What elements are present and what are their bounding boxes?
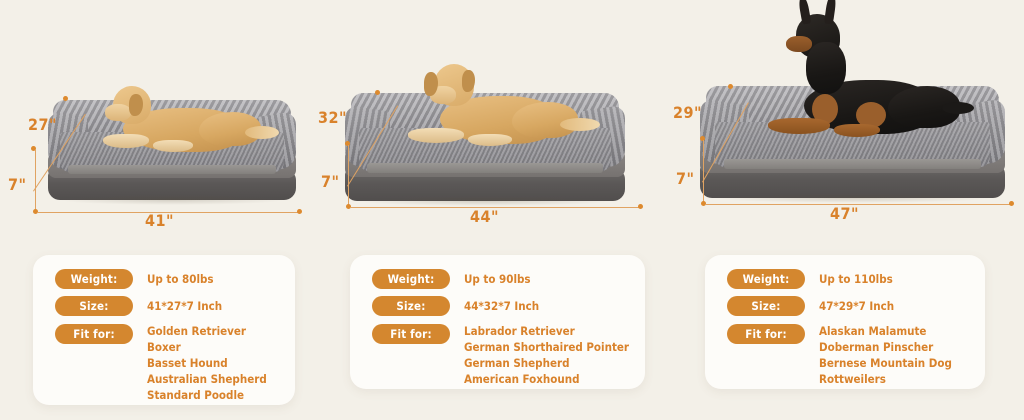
- product-group-xxlarge: 29" 7" 47" Weight: Up to 110lbs Size: 47…: [660, 0, 1024, 240]
- fit-label-pill: Fit for:: [727, 324, 805, 344]
- bed-front-lip: [68, 165, 276, 174]
- breed-item: Boxer: [147, 339, 267, 355]
- breed-item: Rottweilers: [819, 371, 952, 387]
- weight-label-pill: Weight:: [727, 269, 805, 289]
- size-label-pill: Size:: [727, 296, 805, 316]
- breed-item: Bernese Mountain Dog: [819, 355, 952, 371]
- breed-item: German Shorthaired Pointer: [464, 339, 629, 355]
- weight-value: Up to 90lbs: [464, 269, 531, 289]
- size-value: 47*29*7 Inch: [819, 296, 894, 316]
- breed-item: Doberman Pinscher: [819, 339, 952, 355]
- dim-height-xlarge: 7": [321, 172, 340, 191]
- dim-width-xlarge: 44": [470, 207, 499, 226]
- product-group-large: 27" 7" 41" Weight: Up to 80lbs Size: 41*…: [0, 0, 320, 240]
- fit-label-pill: Fit for:: [372, 324, 450, 344]
- weight-value: Up to 110lbs: [819, 269, 893, 289]
- size-row: Size: 44*32*7 Inch: [372, 296, 633, 316]
- dim-height-xxlarge: 7": [676, 169, 695, 188]
- size-row: Size: 47*29*7 Inch: [727, 296, 973, 316]
- bed-shadow: [712, 193, 993, 203]
- size-label-pill: Size:: [55, 296, 133, 316]
- product-group-xlarge: 32" 7" 44" Weight: Up to 90lbs Size: 44*…: [320, 0, 660, 240]
- dim-height-large: 7": [8, 175, 27, 194]
- fit-row: Fit for: Golden RetrieverBoxerBasset Hou…: [55, 323, 283, 403]
- breed-item: Labrador Retriever: [464, 323, 629, 339]
- infographic-stage: 27" 7" 41" Weight: Up to 80lbs Size: 41*…: [0, 0, 1024, 420]
- size-value: 44*32*7 Inch: [464, 296, 539, 316]
- bed-shadow: [58, 195, 286, 205]
- breed-item: Golden Retriever: [147, 323, 267, 339]
- weight-label-pill: Weight:: [372, 269, 450, 289]
- dim-depth-xxlarge: 29": [673, 103, 702, 122]
- info-card-xxlarge: Weight: Up to 110lbs Size: 47*29*7 Inch …: [705, 255, 985, 389]
- size-value: 41*27*7 Inch: [147, 296, 222, 316]
- weight-row: Weight: Up to 110lbs: [727, 269, 973, 289]
- weight-value: Up to 80lbs: [147, 269, 214, 289]
- breed-item: Australian Shepherd: [147, 371, 267, 387]
- info-card-large: Weight: Up to 80lbs Size: 41*27*7 Inch F…: [33, 255, 295, 405]
- fit-label-pill: Fit for:: [55, 324, 133, 344]
- dim-depth-xlarge: 32": [318, 108, 347, 127]
- breed-item: German Shepherd: [464, 355, 629, 371]
- breed-item: Basset Hound: [147, 355, 267, 371]
- breed-list: Golden RetrieverBoxerBasset HoundAustral…: [147, 323, 267, 403]
- dog-bed-xxlarge: [700, 86, 1005, 198]
- size-row: Size: 41*27*7 Inch: [55, 296, 283, 316]
- weight-row: Weight: Up to 80lbs: [55, 269, 283, 289]
- bed-front-lip: [724, 159, 980, 169]
- dog-bed-xlarge: [345, 93, 625, 201]
- size-label-pill: Size:: [372, 296, 450, 316]
- breed-list: Alaskan MalamuteDoberman PinscherBernese…: [819, 323, 952, 387]
- breed-item: Alaskan Malamute: [819, 323, 952, 339]
- bed-front-lip: [367, 163, 602, 173]
- breed-list: Labrador RetrieverGerman Shorthaired Poi…: [464, 323, 629, 387]
- breed-item: American Foxhound: [464, 371, 629, 387]
- dim-depth-large: 27": [28, 115, 57, 134]
- dim-width-xxlarge: 47": [830, 204, 859, 223]
- bed-shadow: [356, 196, 614, 206]
- fit-row: Fit for: Labrador RetrieverGerman Shorth…: [372, 323, 633, 387]
- weight-row: Weight: Up to 90lbs: [372, 269, 633, 289]
- dim-width-large: 41": [145, 211, 174, 230]
- info-card-xlarge: Weight: Up to 90lbs Size: 44*32*7 Inch F…: [350, 255, 645, 389]
- breed-item: Standard Poodle: [147, 387, 267, 403]
- weight-label-pill: Weight:: [55, 269, 133, 289]
- fit-row: Fit for: Alaskan MalamuteDoberman Pinsch…: [727, 323, 973, 387]
